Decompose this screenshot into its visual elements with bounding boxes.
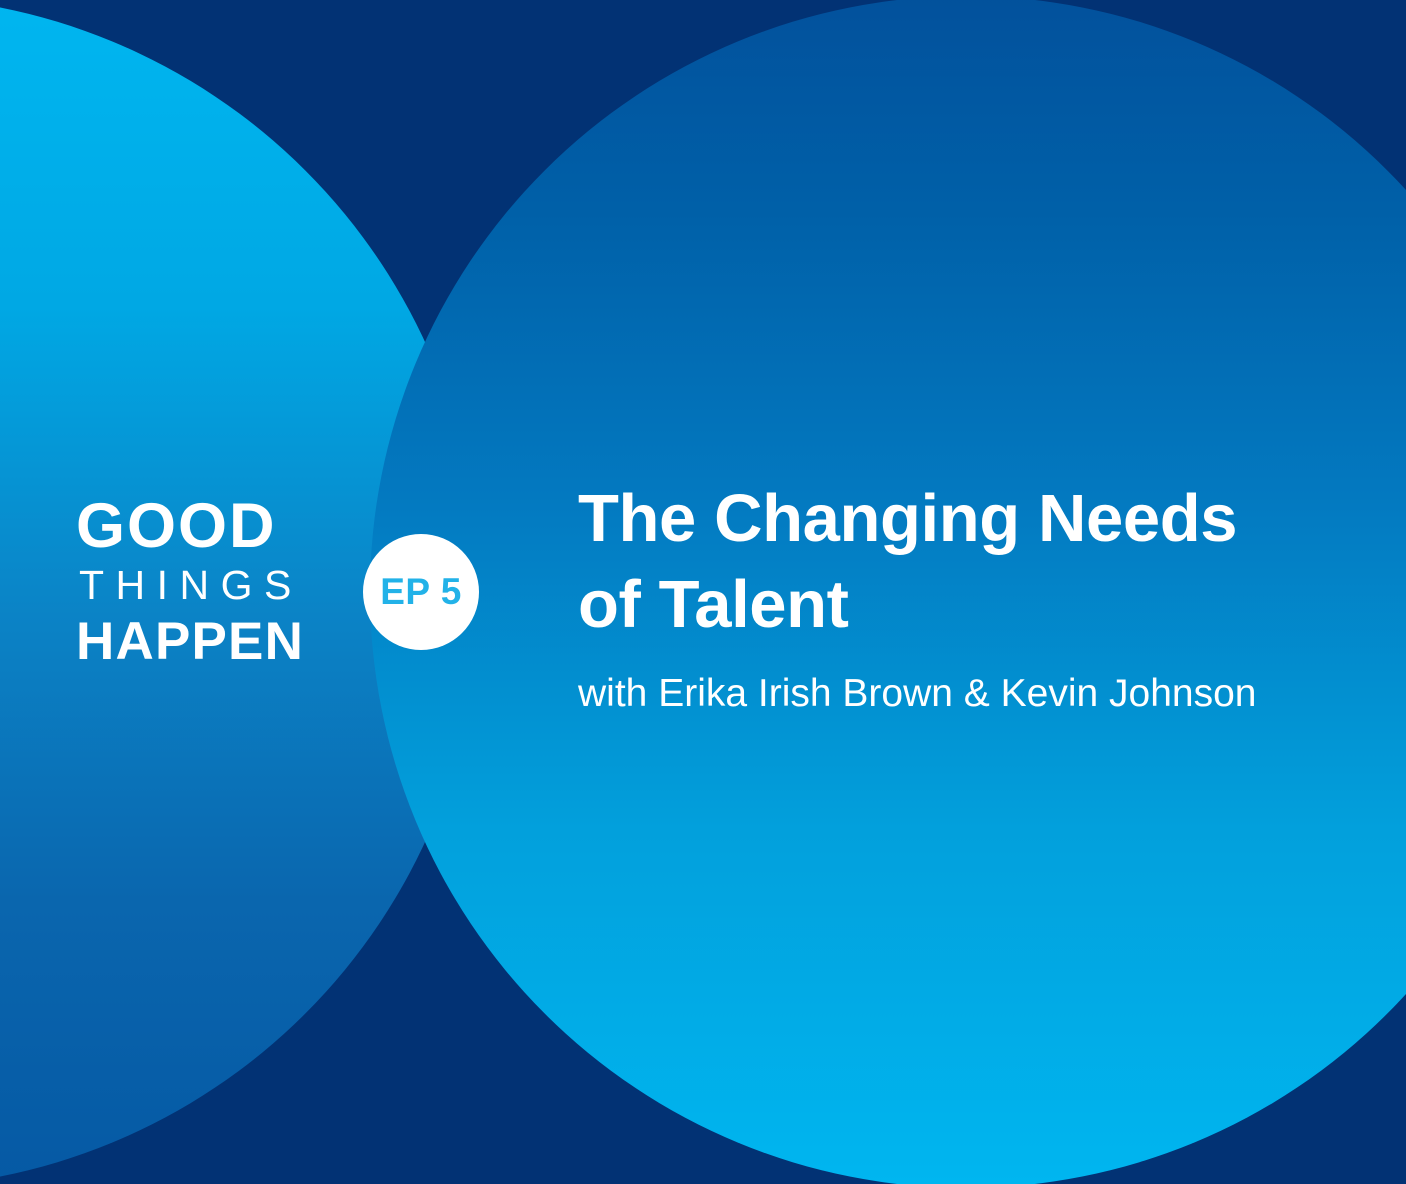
logo-word-good: GOOD [76,496,326,558]
logo-word-things: THINGS [79,558,326,612]
episode-badge: EP 5 [363,534,479,650]
brand-logo-lockup: GOOD THINGS HAPPEN [76,496,326,671]
episode-title-block: The Changing Needs of Talent with Erika … [578,476,1338,718]
logo-word-happen: HAPPEN [76,612,326,671]
podcast-cover-art: GOOD THINGS HAPPEN EP 5 The Changing Nee… [0,0,1406,1184]
episode-guests: with Erika Irish Brown & Kevin Johnson [578,671,1338,718]
episode-badge-label: EP 5 [380,573,462,610]
episode-title: The Changing Needs of Talent [578,476,1338,649]
